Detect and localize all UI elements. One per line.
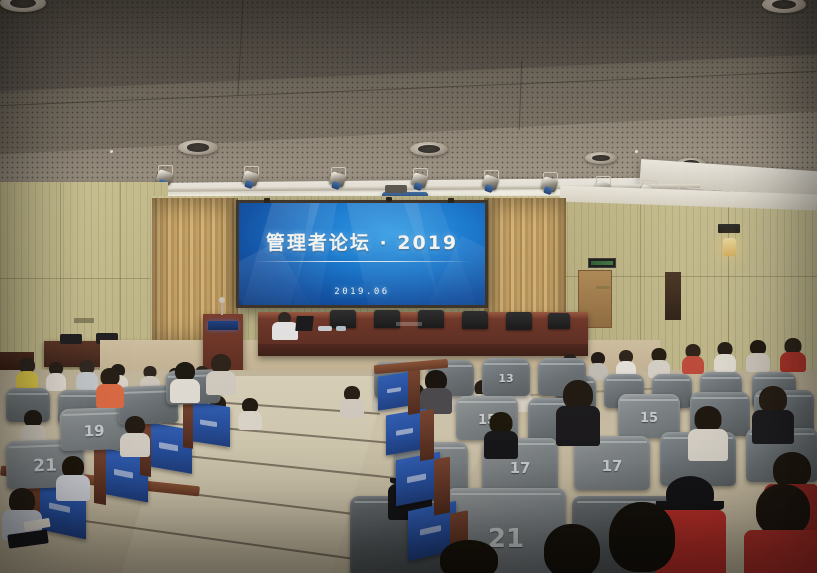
table-items xyxy=(396,322,422,326)
wall-sconce-icon xyxy=(723,238,736,256)
wall-speaker-icon xyxy=(718,224,740,233)
exit-sign-icon xyxy=(588,258,616,268)
audience-person xyxy=(596,502,688,573)
stage-light-icon xyxy=(243,166,258,188)
seat-side-panel[interactable] xyxy=(378,371,412,410)
stage-chair xyxy=(462,311,488,329)
ceiling-vent xyxy=(410,142,448,156)
audience-person xyxy=(120,416,150,456)
microphone-icon xyxy=(221,300,223,315)
seat[interactable]: 13 xyxy=(482,358,530,396)
led-screen-frame: 管理者论坛 · 2019 2019.06 xyxy=(236,200,488,308)
podium-led-sign xyxy=(208,321,238,330)
laptop xyxy=(295,316,314,331)
audience-person xyxy=(430,540,508,573)
led-screen: 管理者论坛 · 2019 2019.06 xyxy=(239,203,485,305)
audience-person xyxy=(170,362,200,402)
screen-mount xyxy=(264,198,270,203)
stage-light-icon xyxy=(412,168,427,190)
stage-light-icon xyxy=(483,170,498,192)
stage-light-icon xyxy=(330,167,345,189)
seat-number: 17 xyxy=(574,457,650,475)
audience-person xyxy=(484,412,518,456)
wall-marking xyxy=(596,286,610,289)
stage-chair xyxy=(506,312,532,330)
screen-date-text: 2019.06 xyxy=(239,287,485,297)
ceiling-vent xyxy=(585,152,617,164)
seat-number: 17 xyxy=(482,459,558,477)
wall-sign-left xyxy=(74,318,94,323)
seat-arm xyxy=(94,447,106,505)
audience-person xyxy=(96,368,124,406)
screen-mount xyxy=(448,198,454,203)
audience-person xyxy=(752,386,794,440)
stage-chair xyxy=(548,313,570,329)
audience-person xyxy=(556,380,600,442)
ceiling-sensor xyxy=(635,150,638,153)
screen-divider xyxy=(253,261,471,262)
seat-side-panel[interactable] xyxy=(190,401,230,447)
seat-arm xyxy=(183,399,193,449)
foreground-audience xyxy=(0,500,817,573)
ceiling-vent xyxy=(178,140,218,155)
seat-arm xyxy=(420,409,434,461)
ceiling-sensor xyxy=(110,150,113,153)
screen-title-text: 管理者论坛 · 2019 xyxy=(239,228,485,255)
doorway-right-rear[interactable] xyxy=(665,272,681,320)
auditorium-photo: 管理者论坛 · 2019 2019.06 xyxy=(0,0,817,573)
seat-number: 15 xyxy=(618,411,680,426)
audience-person xyxy=(206,354,236,394)
screen-mount xyxy=(386,197,392,202)
stage-light-icon xyxy=(542,172,557,194)
audience-person xyxy=(56,456,90,500)
audience-person xyxy=(744,484,817,573)
audience-person xyxy=(688,406,728,458)
seat-number: 13 xyxy=(482,372,530,385)
seat-arm xyxy=(408,369,420,415)
